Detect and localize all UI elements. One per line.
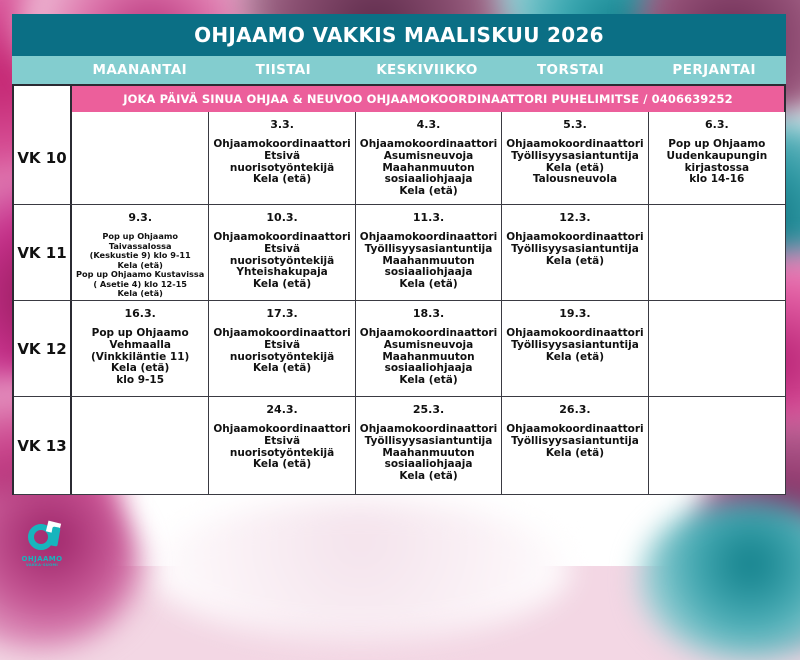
week-number-label: VK 12 — [14, 301, 72, 396]
schedule-cell[interactable]: 3.3.OhjaamokoordinaattoriEtsivä nuorisot… — [209, 112, 355, 204]
cell-date: 18.3. — [413, 307, 444, 320]
schedule-cell[interactable]: 4.3.OhjaamokoordinaattoriAsumisneuvojaMa… — [356, 112, 502, 204]
week-number-label: VK 10 — [14, 112, 72, 204]
cell-service-line: Kela (etä) — [360, 279, 497, 291]
cell-services: OhjaamokoordinaattoriAsumisneuvojaMaahan… — [360, 328, 497, 387]
cell-date: 3.3. — [270, 118, 294, 131]
cell-service-line: Asumisneuvoja — [360, 151, 497, 163]
cell-date: 17.3. — [266, 307, 297, 320]
week-number-label: VK 13 — [14, 397, 72, 494]
cell-service-line: Pop up Ohjaamo — [91, 328, 189, 340]
cell-date: 16.3. — [125, 307, 156, 320]
cell-date: 5.3. — [563, 118, 587, 131]
weekday-wednesday: KESKIVIIKKO — [355, 56, 499, 84]
cell-date: 12.3. — [559, 211, 590, 224]
cell-service-line: Työllisyysasiantuntija — [506, 151, 643, 163]
cell-service-line: Kela (etä) — [76, 289, 204, 299]
cell-service-line: Ohjaamokoordinaattori — [360, 139, 497, 151]
week-row: VK 1324.3.OhjaamokoordinaattoriEtsivä nu… — [14, 397, 786, 495]
cell-services: Pop up OhjaamoVehmaalla(Vinkkiläntie 11)… — [91, 328, 189, 387]
schedule-cell-empty[interactable] — [649, 397, 786, 494]
cell-service-line: Kela (etä) — [506, 256, 643, 268]
schedule-cell[interactable]: 24.3.OhjaamokoordinaattoriEtsivä nuoriso… — [209, 397, 355, 494]
schedule-cell[interactable]: 6.3.Pop up OhjaamoUudenkaupunginkirjasto… — [649, 112, 786, 204]
cell-service-line: Ohjaamokoordinaattori — [360, 232, 497, 244]
cell-service-line: Vehmaalla — [91, 340, 189, 352]
weekday-thursday: TORSTAI — [499, 56, 643, 84]
cell-service-line: Työllisyysasiantuntija — [360, 436, 497, 448]
week-row: VK 1216.3.Pop up OhjaamoVehmaalla(Vinkki… — [14, 301, 786, 397]
cell-service-line: Pop up Ohjaamo Taivassalossa — [76, 232, 204, 251]
cell-service-line: Kela (etä) — [213, 363, 350, 375]
daily-contact-banner: JOKA PÄIVÄ SINUA OHJAA & NEUVOO OHJAAMOK… — [72, 84, 786, 112]
cell-service-line: Ohjaamokoordinaattori — [360, 424, 497, 436]
cell-date: 4.3. — [417, 118, 441, 131]
cell-services: OhjaamokoordinaattoriAsumisneuvojaMaahan… — [360, 139, 497, 198]
schedule-cell[interactable]: 10.3.OhjaamokoordinaattoriEtsivä nuoriso… — [209, 205, 355, 300]
cell-service-line: Kela (etä) — [213, 279, 350, 291]
cell-service-line: Kela (etä) — [360, 471, 497, 483]
schedule-cell[interactable]: 5.3.OhjaamokoordinaattoriTyöllisyysasian… — [502, 112, 648, 204]
schedule-cell[interactable]: 12.3.OhjaamokoordinaattoriTyöllisyysasia… — [502, 205, 648, 300]
cell-services: Pop up OhjaamoUudenkaupunginkirjastossak… — [666, 139, 767, 186]
cell-service-line: Etsivä nuorisotyöntekijä — [213, 244, 350, 268]
cell-date: 25.3. — [413, 403, 444, 416]
cell-date: 24.3. — [266, 403, 297, 416]
schedule-cell[interactable]: 26.3.OhjaamokoordinaattoriTyöllisyysasia… — [502, 397, 648, 494]
schedule-cell[interactable]: 11.3.OhjaamokoordinaattoriTyöllisyysasia… — [356, 205, 502, 300]
week-number-label: VK 11 — [14, 205, 72, 300]
schedule-cell-empty[interactable] — [72, 112, 209, 204]
schedule-cell[interactable]: 9.3.Pop up Ohjaamo Taivassalossa(Keskust… — [72, 205, 209, 300]
cell-service-line: klo 14-16 — [666, 174, 767, 186]
schedule-cell[interactable]: 17.3.OhjaamokoordinaattoriEtsivä nuoriso… — [209, 301, 355, 396]
weekday-tuesday: TIISTAI — [212, 56, 356, 84]
schedule-cell[interactable]: 18.3.OhjaamokoordinaattoriAsumisneuvojaM… — [356, 301, 502, 396]
week-row: VK 119.3.Pop up Ohjaamo Taivassalossa(Ke… — [14, 205, 786, 301]
cell-service-line: Kela (etä) — [506, 352, 643, 364]
cell-service-line: Kela (etä) — [360, 186, 497, 198]
week-rows: VK 103.3.OhjaamokoordinaattoriEtsivä nuo… — [14, 112, 786, 495]
cell-service-line: Ohjaamokoordinaattori — [213, 424, 350, 436]
schedule-poster: OHJAAMO VAKKIS MAALISKUU 2026 MAANANTAI … — [0, 0, 800, 566]
cell-services: OhjaamokoordinaattoriTyöllisyysasiantunt… — [506, 139, 643, 186]
cell-services: Pop up Ohjaamo Taivassalossa(Keskustie 9… — [76, 232, 204, 299]
cell-date: 9.3. — [128, 211, 152, 224]
schedule-table: OHJAAMO VAKKIS MAALISKUU 2026 MAANANTAI … — [12, 14, 786, 495]
cell-services: OhjaamokoordinaattoriEtsivä nuorisotyönt… — [213, 328, 350, 375]
cell-service-line: Kela (etä) — [213, 174, 350, 186]
schedule-cell[interactable]: 19.3.OhjaamokoordinaattoriTyöllisyysasia… — [502, 301, 648, 396]
page-title: OHJAAMO VAKKIS MAALISKUU 2026 — [12, 14, 786, 56]
cell-service-line: Työllisyysasiantuntija — [506, 340, 643, 352]
cell-service-line: Etsivä nuorisotyöntekijä — [213, 436, 350, 460]
cell-date: 10.3. — [266, 211, 297, 224]
cell-services: OhjaamokoordinaattoriTyöllisyysasiantunt… — [506, 328, 643, 363]
daily-info-banner-row: JOKA PÄIVÄ SINUA OHJAA & NEUVOO OHJAAMOK… — [14, 84, 786, 112]
cell-services: OhjaamokoordinaattoriTyöllisyysasiantunt… — [360, 232, 497, 291]
cell-services: OhjaamokoordinaattoriTyöllisyysasiantunt… — [506, 232, 643, 267]
schedule-cell-empty[interactable] — [649, 301, 786, 396]
schedule-cell-empty[interactable] — [72, 397, 209, 494]
cell-services: OhjaamokoordinaattoriTyöllisyysasiantunt… — [360, 424, 497, 483]
weekday-friday: PERJANTAI — [642, 56, 786, 84]
cell-service-line: Työllisyysasiantuntija — [506, 436, 643, 448]
weekday-monday: MAANANTAI — [68, 56, 212, 84]
cell-services: OhjaamokoordinaattoriEtsivä nuorisotyönt… — [213, 232, 350, 291]
banner-week-cell — [14, 84, 72, 112]
cell-date: 6.3. — [705, 118, 729, 131]
cell-service-line: klo 9-15 — [91, 375, 189, 387]
cell-service-line: Ohjaamokoordinaattori — [506, 328, 643, 340]
schedule-cell[interactable]: 25.3.OhjaamokoordinaattoriTyöllisyysasia… — [356, 397, 502, 494]
cell-service-line: Työllisyysasiantuntija — [506, 244, 643, 256]
ohjaamo-logo: OHJAAMO VAKKA-SUOMI — [14, 524, 70, 564]
cell-service-line: Uudenkaupungin — [666, 151, 767, 163]
cell-service-line: Ohjaamokoordinaattori — [213, 232, 350, 244]
ohjaamo-ring-icon — [25, 524, 59, 554]
weekday-header-row: MAANANTAI TIISTAI KESKIVIIKKO TORSTAI PE… — [12, 56, 786, 84]
cell-date: 19.3. — [559, 307, 590, 320]
cell-service-line: Ohjaamokoordinaattori — [213, 139, 350, 151]
cell-date: 11.3. — [413, 211, 444, 224]
schedule-grid: JOKA PÄIVÄ SINUA OHJAA & NEUVOO OHJAAMOK… — [12, 84, 786, 495]
cell-service-line: Ohjaamokoordinaattori — [213, 328, 350, 340]
logo-subtitle: VAKKA-SUOMI — [14, 563, 70, 567]
cell-service-line: Ohjaamokoordinaattori — [506, 139, 643, 151]
week-column-spacer — [12, 56, 68, 84]
schedule-cell-empty[interactable] — [649, 205, 786, 300]
cell-services: OhjaamokoordinaattoriEtsivä nuorisotyönt… — [213, 139, 350, 186]
cell-service-line: Etsivä nuorisotyöntekijä — [213, 151, 350, 175]
cell-date: 26.3. — [559, 403, 590, 416]
logo-wordmark: OHJAAMO — [14, 555, 70, 563]
cell-service-line: Kela (etä) — [506, 448, 643, 460]
week-row: VK 103.3.OhjaamokoordinaattoriEtsivä nuo… — [14, 112, 786, 205]
schedule-cell[interactable]: 16.3.Pop up OhjaamoVehmaalla(Vinkkilänti… — [72, 301, 209, 396]
cell-service-line: Kela (etä) — [360, 375, 497, 387]
cell-service-line: Kela (etä) — [213, 459, 350, 471]
cell-service-line: Talousneuvola — [506, 174, 643, 186]
cell-service-line: Ohjaamokoordinaattori — [506, 232, 643, 244]
cell-service-line: Etsivä nuorisotyöntekijä — [213, 340, 350, 364]
cell-services: OhjaamokoordinaattoriEtsivä nuorisotyönt… — [213, 424, 350, 471]
cell-service-line: Työllisyysasiantuntija — [360, 244, 497, 256]
cell-service-line: Ohjaamokoordinaattori — [506, 424, 643, 436]
cell-service-line: Pop up Ohjaamo — [666, 139, 767, 151]
cell-services: OhjaamokoordinaattoriTyöllisyysasiantunt… — [506, 424, 643, 459]
cell-service-line: Asumisneuvoja — [360, 340, 497, 352]
cell-service-line: Ohjaamokoordinaattori — [360, 328, 497, 340]
